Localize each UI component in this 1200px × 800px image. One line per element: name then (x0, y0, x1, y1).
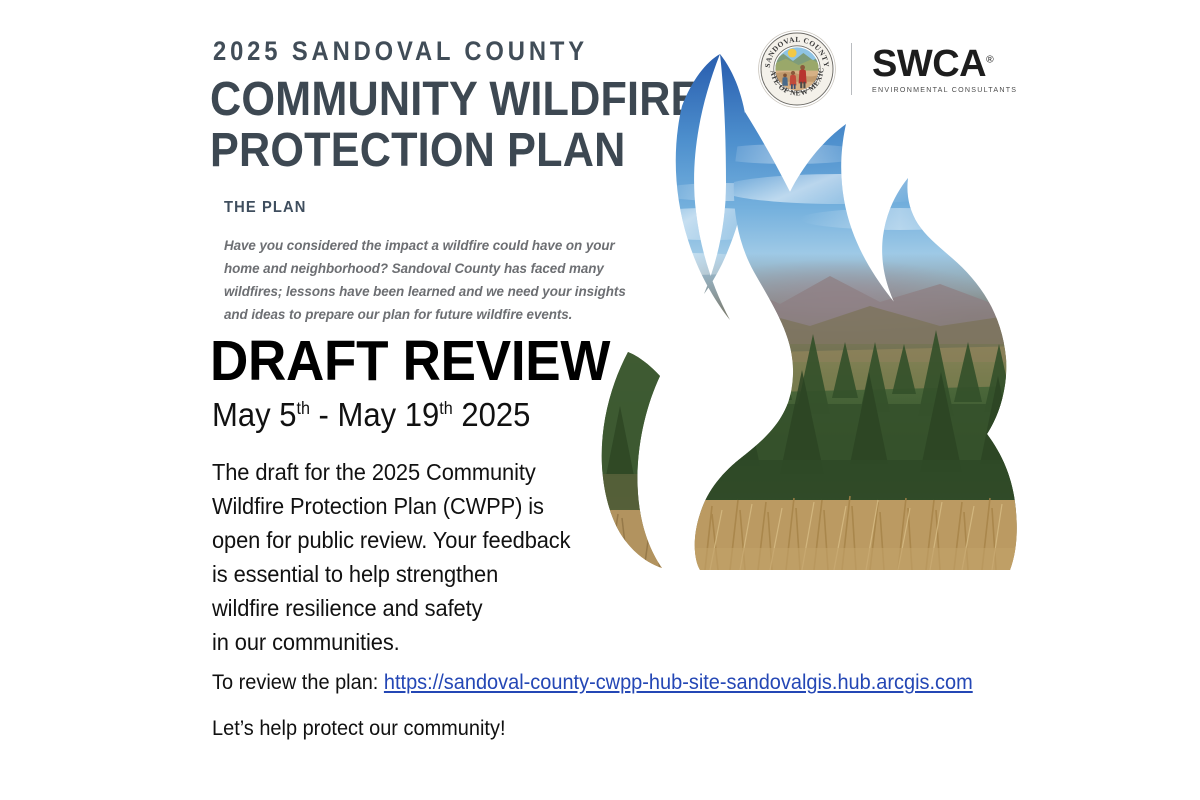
review-date-range: May 5th - May 19th 2025 (212, 398, 530, 431)
body-paragraph: The draft for the 2025 Community Wildfir… (212, 455, 545, 659)
body-line: The draft for the 2025 Community (212, 455, 545, 489)
review-link-prefix: To review the plan: (212, 671, 378, 694)
start-day: 5 (279, 396, 296, 433)
start-month: May (212, 396, 271, 433)
start-ordinal: th (296, 398, 309, 418)
swca-wordmark: SWCA® (872, 45, 1017, 83)
eyebrow-title: 2025 SANDOVAL COUNTY (213, 38, 588, 65)
closing-line: Let’s help protect our community! (212, 718, 505, 739)
body-line: is essential to help strengthen (212, 557, 545, 591)
body-line: wildfire resilience and safety (212, 591, 545, 625)
swca-tagline: ENVIRONMENTAL CONSULTANTS (872, 86, 1017, 94)
registered-trademark-icon: ® (986, 54, 993, 65)
body-line: in our communities. (212, 625, 545, 659)
date-year: 2025 (461, 396, 530, 433)
review-plan-link[interactable]: https://sandoval-county-cwpp-hub-site-sa… (384, 671, 973, 694)
poster-canvas: ·SANDOVAL COUNTY· STATE OF NEW MEXICO SW… (0, 0, 1200, 800)
date-separator: - (319, 396, 329, 433)
logo-lockup: ·SANDOVAL COUNTY· STATE OF NEW MEXICO SW… (757, 28, 992, 110)
swca-logo: SWCA® ENVIRONMENTAL CONSULTANTS (872, 45, 1017, 94)
end-day: 19 (405, 396, 440, 433)
end-month: May (338, 396, 397, 433)
logo-divider (851, 43, 852, 95)
body-line: Wildfire Protection Plan (CWPP) is (212, 489, 545, 523)
county-seal-icon: ·SANDOVAL COUNTY· STATE OF NEW MEXICO (757, 29, 837, 109)
section-subhead: THE PLAN (224, 199, 306, 217)
review-link-line: To review the plan: https://sandoval-cou… (212, 672, 973, 693)
end-ordinal: th (439, 398, 452, 418)
body-line: open for public review. Your feedback (212, 523, 545, 557)
